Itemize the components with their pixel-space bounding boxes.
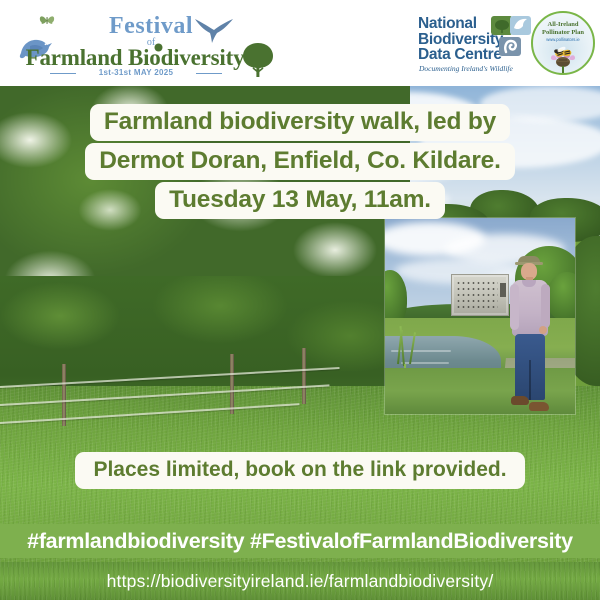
pollinator-plan-badge: All-Ireland Pollinator Plan www.pollinat… [531,11,595,75]
festival-logo-dates: 1st-31st MAY 2025 [48,68,224,77]
nbdc-tagline: Documenting Ireland's Wildlife [419,64,513,73]
bat-house-holes [456,280,498,310]
headline-block: Farmland biodiversity walk, led by Dermo… [0,104,600,221]
places-notice-banner: Places limited, book on the link provide… [0,452,600,489]
nbdc-mark-icon [490,14,532,58]
pollinator-title-line2: Pollinator Plan [533,29,593,37]
fence-post [230,354,234,414]
fence-post [62,364,66,426]
poster-canvas: Farmland biodiversity walk, led by Dermo… [0,0,600,600]
leg-split [529,360,531,400]
butterfly-icon [38,14,56,33]
header-bar: Festival of Farmland Biodiversity 1st-31… [0,0,600,86]
festival-logo: Festival of Farmland Biodiversity 1st-31… [8,8,288,78]
hand [539,326,547,334]
inset-photo [385,218,575,414]
headline-line-2: Dermot Doran, Enfield, Co. Kildare. [85,143,514,180]
places-notice-text: Places limited, book on the link provide… [75,452,524,489]
url-bar[interactable]: https://biodiversityireland.ie/farmlandb… [0,562,600,600]
url-text[interactable]: https://biodiversityireland.ie/farmlandb… [107,571,494,592]
left-shoe [511,396,529,405]
hashtag-text: #farmlandbiodiversity #FestivalofFarmlan… [27,529,573,554]
right-arm [541,284,550,328]
headline-line-3: Tuesday 13 May, 11am. [155,182,445,219]
left-arm [510,284,519,330]
festival-logo-line1: Festival [86,13,216,40]
fence-post [302,348,306,404]
hashtag-bar: #farmlandbiodiversity #FestivalofFarmlan… [0,524,600,558]
right-shoe [529,402,549,411]
nbdc-logo: National Biodiversity Data Centre Docume… [418,14,530,76]
inset-person [509,256,555,414]
headline-line-1: Farmland biodiversity walk, led by [90,104,510,141]
pollinator-badge-title: All-Ireland Pollinator Plan [533,21,593,36]
inset-bat-house [451,274,509,316]
bee-on-thistle-icon [543,39,583,75]
bat-house-door [500,283,506,297]
tree-icon [241,42,275,83]
pollinator-title-line1: All-Ireland [533,21,593,29]
